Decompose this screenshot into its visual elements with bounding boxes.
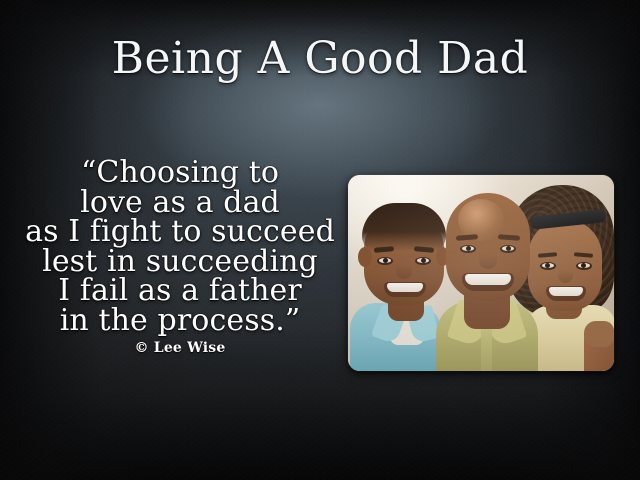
quote-line: as I fight to succeed: [20, 217, 340, 247]
quote-line: in the process.”: [20, 306, 340, 336]
father-teeth: [465, 274, 511, 285]
boy-ear-left: [358, 247, 372, 267]
boy-pupil-left: [383, 258, 388, 263]
family-photo: [348, 175, 614, 371]
quote-line: love as a dad: [20, 188, 340, 218]
quote-block: “Choosing to love as a dad as I fight to…: [20, 158, 340, 356]
presentation-slide: Being A Good Dad “Choosing to love as a …: [0, 0, 640, 480]
boy-hair: [362, 203, 446, 251]
girl-pupil-right: [581, 263, 586, 268]
quote-line: I fail as a father: [20, 276, 340, 306]
father-shirt-placket: [481, 325, 492, 371]
father-pupil-left: [466, 246, 471, 251]
slide-title: Being A Good Dad: [0, 33, 640, 85]
family-photo-content: [348, 175, 614, 371]
father-pupil-right: [506, 246, 511, 251]
girl-hand: [584, 321, 614, 347]
girl-pupil-left: [545, 263, 550, 268]
girl-teeth: [549, 287, 583, 296]
quote-attribution: © Lee Wise: [20, 340, 340, 356]
quote-line: “Choosing to: [20, 158, 340, 188]
boy-pupil-right: [421, 258, 426, 263]
quote-line: lest in succeeding: [20, 247, 340, 277]
boy-teeth: [387, 283, 423, 292]
